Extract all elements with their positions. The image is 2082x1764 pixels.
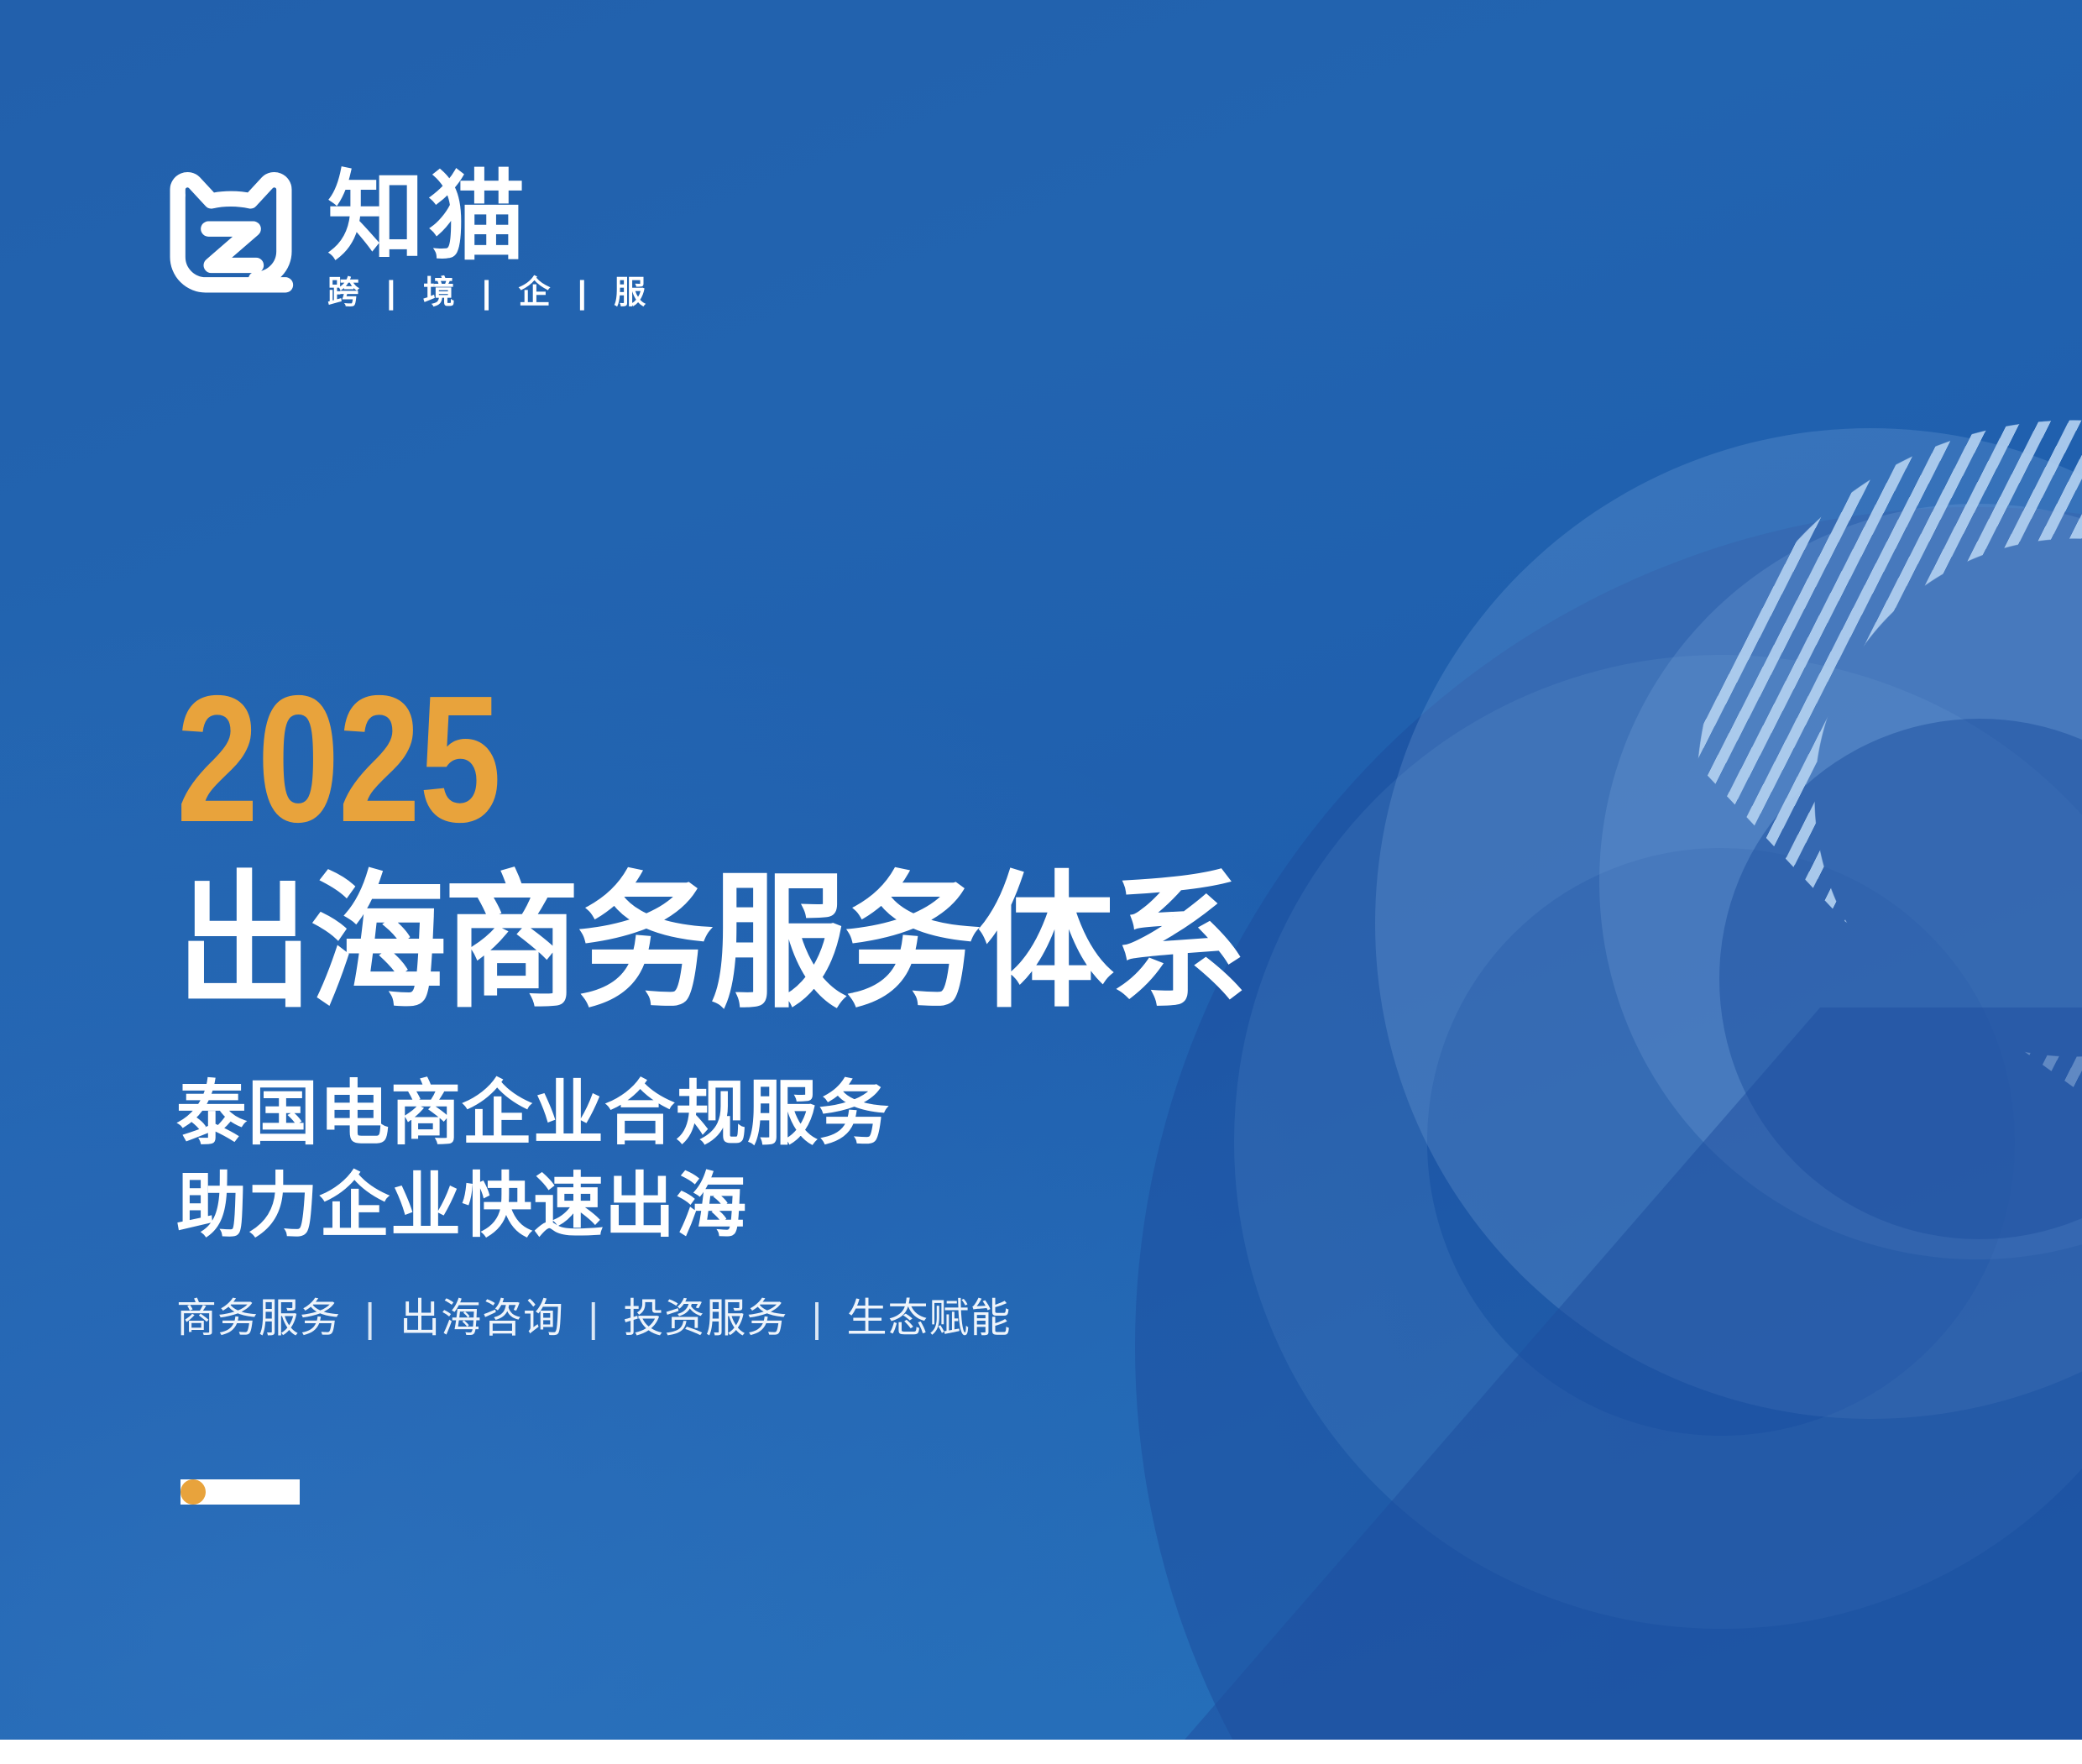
hero-block: 2025 出海商务服务体系 泰国电商企业合规服务 助力企业快速出海 商务服务 |… (176, 672, 1603, 1346)
pagination-dots[interactable] (180, 1479, 300, 1505)
zhimao-cat-logo-icon (165, 165, 306, 307)
pagination-dot-1[interactable] (180, 1479, 206, 1505)
logo-wordmark: 知猫 (327, 168, 655, 265)
bottom-white-strip (0, 1740, 2082, 1764)
page-title: 出海商务服务体系 (176, 867, 1504, 1020)
tagline-item-4: 生态赋能 (847, 1296, 1012, 1341)
logo-text-column: 知猫 跨 | 境 | 企 | 服 (327, 165, 655, 309)
tagline-separator-1: | (353, 1293, 387, 1345)
brand-logo[interactable]: 知猫 跨 | 境 | 企 | 服 (165, 165, 655, 309)
tagline-separator-3: | (800, 1293, 834, 1345)
hero-year: 2025 (176, 672, 1347, 847)
tagline-item-2: 出海咨询 (400, 1296, 564, 1341)
pagination-dot-2-active[interactable] (228, 1479, 253, 1505)
hero-subtitle-line-1: 泰国电商企业合规服务 (176, 1067, 1603, 1160)
hero-subtitle-line-2: 助力企业快速出海 (176, 1159, 1603, 1253)
tagline-item-3: 投资服务 (623, 1296, 787, 1341)
logo-subtitle: 跨 | 境 | 企 | 服 (327, 277, 655, 309)
hero-tagline: 商务服务 | 出海咨询 | 投资服务 | 生态赋能 (176, 1293, 1603, 1345)
tagline-item-1: 商务服务 (176, 1296, 341, 1341)
pagination-dot-3[interactable] (275, 1479, 300, 1505)
tagline-separator-2: | (577, 1293, 611, 1345)
slide-canvas: 知猫 跨 | 境 | 企 | 服 2025 出海商务服务体系 泰国电商企业合规服… (0, 0, 2082, 1764)
